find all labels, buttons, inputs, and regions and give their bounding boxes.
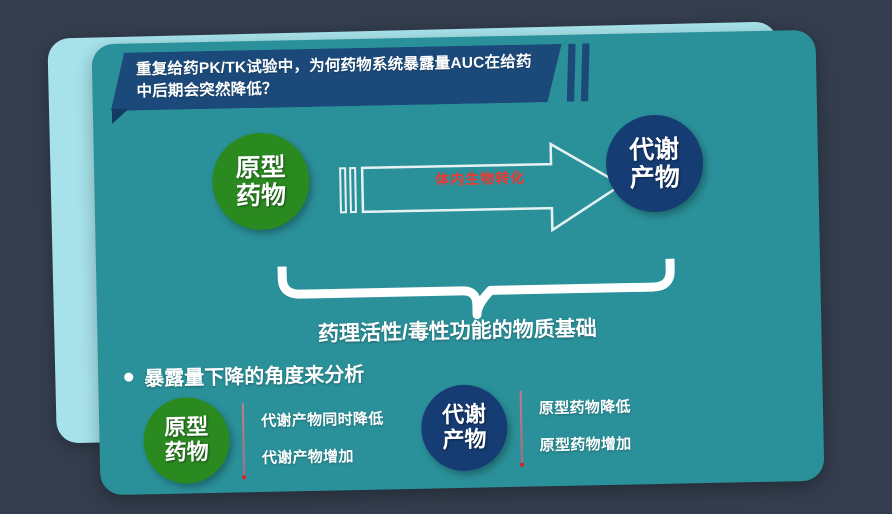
slide-canvas: 重复给药PK/TK试验中，为何药物系统暴露量AUC在给药 中后期会突然降低？ 原… [0, 0, 892, 514]
bullet-dot-icon [124, 373, 133, 382]
prototype-outcome-list: 代谢产物同时降低 代谢产物增加 [261, 408, 385, 468]
title-banner-body: 重复给药PK/TK试验中，为何药物系统暴露量AUC在给药 中后期会突然降低？ [110, 44, 563, 111]
analysis-group-prototype: 原型 药物 代谢产物同时降低 代谢产物增加 [143, 394, 385, 485]
banner-fold-corner [112, 109, 129, 124]
banner-slash-icon-1 [566, 44, 577, 102]
title-banner: 重复给药PK/TK试验中，为何药物系统暴露量AUC在给药 中后期会突然降低？ [110, 43, 601, 115]
list-item: 原型药物降低 [539, 396, 631, 419]
prototype-drug-circle-small-label: 原型 药物 [164, 415, 209, 465]
list-item: 代谢产物增加 [262, 445, 385, 468]
metabolite-outcome-list: 原型药物降低 原型药物增加 [539, 396, 632, 456]
group-divider-right [520, 391, 523, 463]
group-divider-left [242, 403, 245, 475]
list-item: 代谢产物同时降低 [261, 408, 384, 431]
metabolite-circle-small: 代谢 产物 [420, 384, 508, 472]
metabolite-circle-label: 代谢 产物 [629, 135, 680, 192]
metabolite-circle-small-label: 代谢 产物 [442, 403, 487, 453]
prototype-drug-circle-label: 原型 药物 [235, 153, 286, 210]
content-card: 重复给药PK/TK试验中，为何药物系统暴露量AUC在给药 中后期会突然降低？ 原… [92, 30, 825, 495]
analysis-bullet-row: 暴露量下降的角度来分析 [124, 358, 365, 392]
metabolite-circle: 代谢 产物 [605, 114, 704, 213]
prototype-drug-circle: 原型 药物 [211, 132, 310, 231]
biotransformation-arrow: 体内生物转化 [338, 139, 630, 250]
title-text: 重复给药PK/TK试验中，为何药物系统暴露量AUC在给药 中后期会突然降低？ [136, 51, 533, 104]
prototype-drug-circle-small: 原型 药物 [143, 397, 231, 485]
arrow-icon [338, 139, 630, 245]
arrow-label: 体内生物转化 [400, 167, 560, 190]
analysis-bullet-text: 暴露量下降的角度来分析 [144, 358, 365, 391]
banner-slash-icon-2 [580, 43, 591, 101]
list-item: 原型药物增加 [539, 433, 631, 456]
analysis-group-metabolite: 代谢 产物 原型药物降低 原型药物增加 [420, 382, 631, 472]
